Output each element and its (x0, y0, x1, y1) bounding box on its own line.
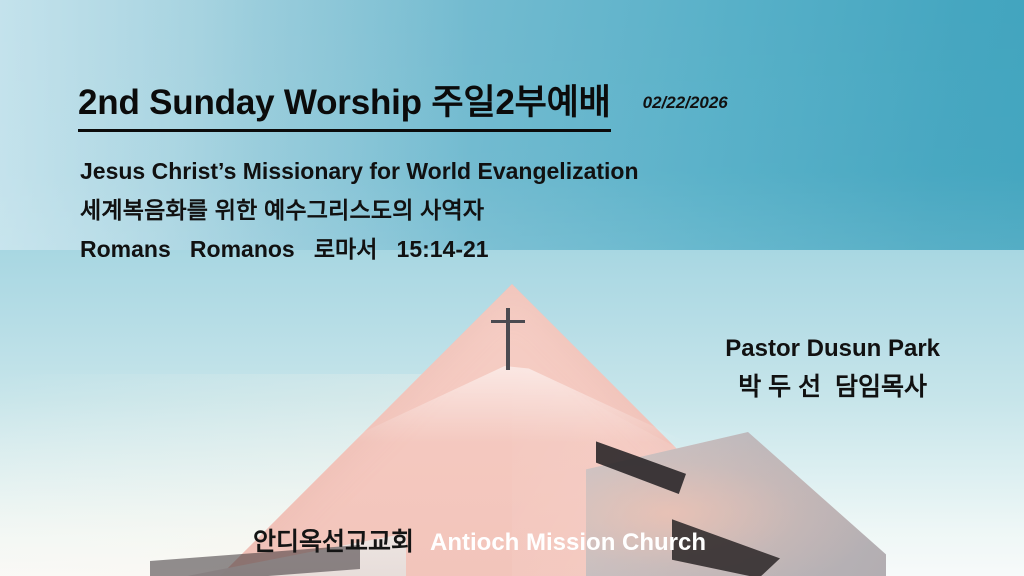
church-name-block: 안디옥선교교회 Antioch Mission Church (253, 522, 706, 558)
scripture-reference: Romans Romanos 로마서 15:14-21 (80, 238, 639, 261)
text-layer: 2nd Sunday Worship 주일2부예배 02/22/2026 Jes… (0, 0, 1024, 576)
subtitle-korean: 세계복음화를 위한 예수그리스도의 사역자 (80, 199, 639, 222)
service-date: 02/22/2026 (643, 93, 728, 113)
pastor-name-english: Pastor Dusun Park (725, 336, 940, 362)
church-name-korean: 안디옥선교교회 (253, 522, 414, 558)
slide-title: 2nd Sunday Worship 주일2부예배 (78, 74, 611, 132)
pastor-name-korean: 박 두 선 담임목사 (725, 372, 940, 402)
subtitle-block: Jesus Christ’s Missionary for World Evan… (80, 160, 639, 277)
worship-slide: 2nd Sunday Worship 주일2부예배 02/22/2026 Jes… (0, 0, 1024, 576)
subtitle-english: Jesus Christ’s Missionary for World Evan… (80, 160, 639, 183)
church-name-english: Antioch Mission Church (430, 529, 706, 557)
title-row: 2nd Sunday Worship 주일2부예배 02/22/2026 (78, 74, 728, 132)
pastor-block: Pastor Dusun Park 박 두 선 담임목사 (725, 336, 940, 402)
